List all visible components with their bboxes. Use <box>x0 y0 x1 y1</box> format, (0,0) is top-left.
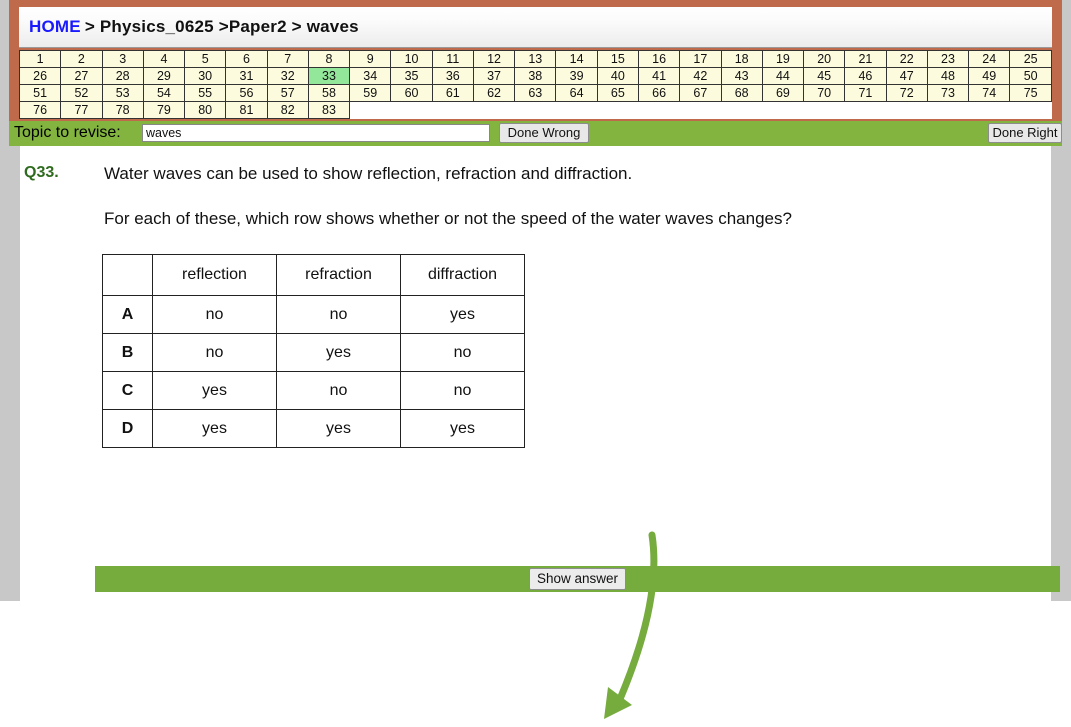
answer-table-corner-cell <box>103 255 153 296</box>
number-grid-cell-7[interactable]: 7 <box>267 51 308 68</box>
question-line-1: Water waves can be used to show reflecti… <box>104 164 632 184</box>
number-grid-cell-36[interactable]: 36 <box>432 68 473 85</box>
number-grid-cell-79[interactable]: 79 <box>143 102 184 119</box>
number-grid-cell-28[interactable]: 28 <box>102 68 143 85</box>
number-grid-cell-27[interactable]: 27 <box>61 68 102 85</box>
number-grid-cell-20[interactable]: 20 <box>804 51 845 68</box>
answer-cell-d-refraction: yes <box>277 410 401 448</box>
number-grid-cell-18[interactable]: 18 <box>721 51 762 68</box>
header-bar: HOME> Physics_0625 >Paper2 > waves <box>19 7 1052 48</box>
number-grid-cell-1[interactable]: 1 <box>20 51 61 68</box>
number-grid-cell-44[interactable]: 44 <box>762 68 803 85</box>
number-grid-cell-75[interactable]: 75 <box>1010 85 1052 102</box>
topic-label: Topic to revise: <box>14 124 121 142</box>
number-grid-cell-12[interactable]: 12 <box>473 51 514 68</box>
number-grid-cell-34[interactable]: 34 <box>350 68 391 85</box>
number-grid-cell-52[interactable]: 52 <box>61 85 102 102</box>
answer-cell-b-reflection: no <box>153 334 277 372</box>
number-grid-cell-39[interactable]: 39 <box>556 68 597 85</box>
answer-table-row-a: Anonoyes <box>103 296 525 334</box>
number-grid-cell-64[interactable]: 64 <box>556 85 597 102</box>
number-grid-cell-65[interactable]: 65 <box>597 85 638 102</box>
breadcrumb: HOME> Physics_0625 >Paper2 > waves <box>29 17 359 37</box>
number-grid-row: 7677787980818283 <box>20 102 1052 119</box>
number-grid-cell-32[interactable]: 32 <box>267 68 308 85</box>
number-grid-cell-51[interactable]: 51 <box>20 85 61 102</box>
number-grid-cell-10[interactable]: 10 <box>391 51 432 68</box>
number-grid-cell-67[interactable]: 67 <box>680 85 721 102</box>
number-grid-row: 1234567891011121314151617181920212223242… <box>20 51 1052 68</box>
number-grid-cell-31[interactable]: 31 <box>226 68 267 85</box>
number-grid-cell-73[interactable]: 73 <box>927 85 968 102</box>
number-grid-cell-35[interactable]: 35 <box>391 68 432 85</box>
number-grid-cell-33[interactable]: 33 <box>308 68 349 85</box>
number-grid-cell-37[interactable]: 37 <box>473 68 514 85</box>
answer-cell-c-reflection: yes <box>153 372 277 410</box>
app-root: HOME> Physics_0625 >Paper2 > waves 12345… <box>0 0 1071 601</box>
breadcrumb-trail: > Physics_0625 >Paper2 > waves <box>85 17 359 36</box>
answer-option-label-c: C <box>103 372 153 410</box>
number-grid-cell-60[interactable]: 60 <box>391 85 432 102</box>
number-grid-cell-72[interactable]: 72 <box>886 85 927 102</box>
answer-option-label-d: D <box>103 410 153 448</box>
number-grid-row: 5152535455565758596061626364656667686970… <box>20 85 1052 102</box>
number-grid-cell-40[interactable]: 40 <box>597 68 638 85</box>
show-answer-button[interactable]: Show answer <box>529 568 626 590</box>
number-grid-cell-68[interactable]: 68 <box>721 85 762 102</box>
answer-cell-d-diffraction: yes <box>401 410 525 448</box>
question-line-2: For each of these, which row shows wheth… <box>104 209 792 229</box>
number-grid-cell-22[interactable]: 22 <box>886 51 927 68</box>
number-grid-cell-6[interactable]: 6 <box>226 51 267 68</box>
number-grid-cell-63[interactable]: 63 <box>515 85 556 102</box>
number-grid-cell-38[interactable]: 38 <box>515 68 556 85</box>
question-number-grid[interactable]: 1234567891011121314151617181920212223242… <box>19 50 1052 119</box>
number-grid-cell-83[interactable]: 83 <box>308 102 349 119</box>
answer-cell-a-reflection: no <box>153 296 277 334</box>
number-grid-cell-21[interactable]: 21 <box>845 51 886 68</box>
answer-table-row-b: Bnoyesno <box>103 334 525 372</box>
number-grid-cell-45[interactable]: 45 <box>804 68 845 85</box>
answer-table-header-row: reflection refraction diffraction <box>103 255 525 296</box>
number-grid-cell-82[interactable]: 82 <box>267 102 308 119</box>
breadcrumb-home-link[interactable]: HOME <box>29 17 81 36</box>
number-grid-cell-74[interactable]: 74 <box>969 85 1010 102</box>
answer-table-header-reflection: reflection <box>153 255 277 296</box>
number-grid-cell-76[interactable]: 76 <box>20 102 61 119</box>
number-grid-cell-25[interactable]: 25 <box>1010 51 1052 68</box>
question-content: Q33. Water waves can be used to show ref… <box>20 147 1051 561</box>
answer-table-header-diffraction: diffraction <box>401 255 525 296</box>
answer-cell-b-diffraction: no <box>401 334 525 372</box>
answer-table-row-d: Dyesyesyes <box>103 410 525 448</box>
number-grid-cell-8[interactable]: 8 <box>308 51 349 68</box>
number-grid-cell-29[interactable]: 29 <box>143 68 184 85</box>
number-grid-cell-4[interactable]: 4 <box>143 51 184 68</box>
done-right-button[interactable]: Done Right <box>988 123 1062 143</box>
answer-table-row-c: Cyesnono <box>103 372 525 410</box>
answer-cell-a-refraction: no <box>277 296 401 334</box>
number-grid-cell-49[interactable]: 49 <box>969 68 1010 85</box>
number-grid-cell-62[interactable]: 62 <box>473 85 514 102</box>
number-grid-cell-81[interactable]: 81 <box>226 102 267 119</box>
number-grid-cell-55[interactable]: 55 <box>185 85 226 102</box>
topic-input[interactable] <box>142 124 490 142</box>
number-grid-cell-19[interactable]: 19 <box>762 51 803 68</box>
number-grid-cell-50[interactable]: 50 <box>1010 68 1052 85</box>
number-grid-cell-59[interactable]: 59 <box>350 85 391 102</box>
number-grid-cell-43[interactable]: 43 <box>721 68 762 85</box>
number-grid-cell-empty <box>350 102 1052 119</box>
answer-options-table: reflection refraction diffraction Anonoy… <box>102 254 525 448</box>
answer-table-header-refraction: refraction <box>277 255 401 296</box>
number-grid-cell-9[interactable]: 9 <box>350 51 391 68</box>
number-grid-cell-14[interactable]: 14 <box>556 51 597 68</box>
number-grid-cell-24[interactable]: 24 <box>969 51 1010 68</box>
number-grid-cell-41[interactable]: 41 <box>638 68 679 85</box>
number-grid-cell-46[interactable]: 46 <box>845 68 886 85</box>
number-grid-cell-16[interactable]: 16 <box>638 51 679 68</box>
pointer-arrow-icon <box>580 527 700 727</box>
number-grid-cell-78[interactable]: 78 <box>102 102 143 119</box>
number-grid-cell-23[interactable]: 23 <box>927 51 968 68</box>
answer-cell-c-diffraction: no <box>401 372 525 410</box>
number-grid-cell-30[interactable]: 30 <box>185 68 226 85</box>
number-grid-cell-56[interactable]: 56 <box>226 85 267 102</box>
answer-option-label-b: B <box>103 334 153 372</box>
done-wrong-button[interactable]: Done Wrong <box>499 123 589 143</box>
number-grid-cell-11[interactable]: 11 <box>432 51 473 68</box>
number-grid-cell-13[interactable]: 13 <box>515 51 556 68</box>
number-grid-cell-69[interactable]: 69 <box>762 85 803 102</box>
answer-option-label-a: A <box>103 296 153 334</box>
number-grid-cell-2[interactable]: 2 <box>61 51 102 68</box>
number-grid-cell-5[interactable]: 5 <box>185 51 226 68</box>
number-grid-cell-71[interactable]: 71 <box>845 85 886 102</box>
number-grid-cell-61[interactable]: 61 <box>432 85 473 102</box>
number-grid-cell-48[interactable]: 48 <box>927 68 968 85</box>
number-grid-row: 2627282930313233343536373839404142434445… <box>20 68 1052 85</box>
number-grid-cell-80[interactable]: 80 <box>185 102 226 119</box>
number-grid-cell-3[interactable]: 3 <box>102 51 143 68</box>
number-grid-cell-57[interactable]: 57 <box>267 85 308 102</box>
number-grid-cell-77[interactable]: 77 <box>61 102 102 119</box>
number-grid-cell-42[interactable]: 42 <box>680 68 721 85</box>
answer-cell-d-reflection: yes <box>153 410 277 448</box>
number-grid-cell-47[interactable]: 47 <box>886 68 927 85</box>
answer-cell-c-refraction: no <box>277 372 401 410</box>
number-grid-cell-58[interactable]: 58 <box>308 85 349 102</box>
question-number: Q33. <box>24 164 59 182</box>
number-grid-cell-54[interactable]: 54 <box>143 85 184 102</box>
number-grid-cell-53[interactable]: 53 <box>102 85 143 102</box>
number-grid-cell-15[interactable]: 15 <box>597 51 638 68</box>
number-grid-cell-17[interactable]: 17 <box>680 51 721 68</box>
answer-cell-a-diffraction: yes <box>401 296 525 334</box>
number-grid-cell-26[interactable]: 26 <box>20 68 61 85</box>
answer-cell-b-refraction: yes <box>277 334 401 372</box>
number-grid-cell-70[interactable]: 70 <box>804 85 845 102</box>
number-grid-cell-66[interactable]: 66 <box>638 85 679 102</box>
topic-bar: Topic to revise: Done Wrong Done Right <box>9 121 1062 146</box>
